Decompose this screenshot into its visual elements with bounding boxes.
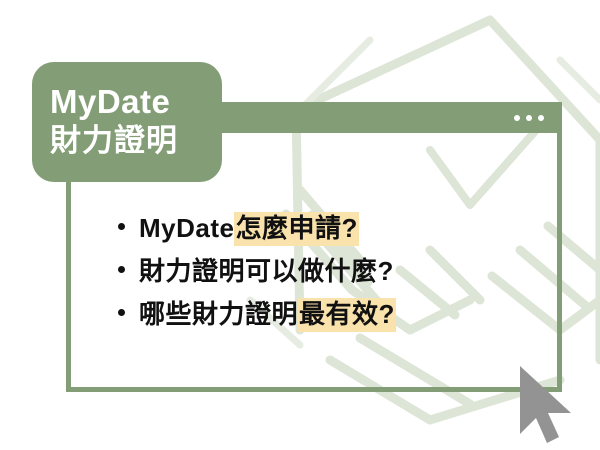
poster-canvas: MyDate 財力證明 MyDate怎麼申請? 財力證明可以做什麼? 哪些財力證… bbox=[0, 0, 600, 450]
bullet-dot-icon bbox=[118, 309, 125, 316]
bullet-dot-icon bbox=[118, 223, 125, 230]
list-item-text: 哪些財力證明最有效? bbox=[139, 300, 396, 330]
badge-title-secondary: 財力證明 bbox=[50, 122, 222, 161]
window-dot bbox=[538, 115, 544, 121]
list-item-highlight: 怎麼申請? bbox=[234, 212, 358, 246]
badge-title-primary: MyDate bbox=[50, 83, 222, 121]
bullet-list: MyDate怎麼申請? 財力證明可以做什麼? 哪些財力證明最有效? bbox=[118, 214, 538, 343]
list-item-plain: MyDate bbox=[139, 213, 234, 243]
list-item-plain: 哪些財力證明 bbox=[139, 299, 298, 329]
list-item-plain: 財力證明可以做什麼? bbox=[139, 256, 394, 286]
window-dot bbox=[514, 115, 520, 121]
list-item: MyDate怎麼申請? bbox=[118, 214, 538, 244]
list-item-text: MyDate怎麼申請? bbox=[139, 214, 359, 244]
list-item-highlight: 最有效? bbox=[298, 298, 396, 332]
list-item-text: 財力證明可以做什麼? bbox=[139, 257, 394, 287]
list-item: 哪些財力證明最有效? bbox=[118, 300, 538, 330]
list-item: 財力證明可以做什麼? bbox=[118, 257, 538, 287]
title-badge: MyDate 財力證明 bbox=[32, 62, 222, 182]
window-dot bbox=[526, 115, 532, 121]
bullet-dot-icon bbox=[118, 266, 125, 273]
window-menu-dots-icon[interactable] bbox=[514, 115, 544, 121]
